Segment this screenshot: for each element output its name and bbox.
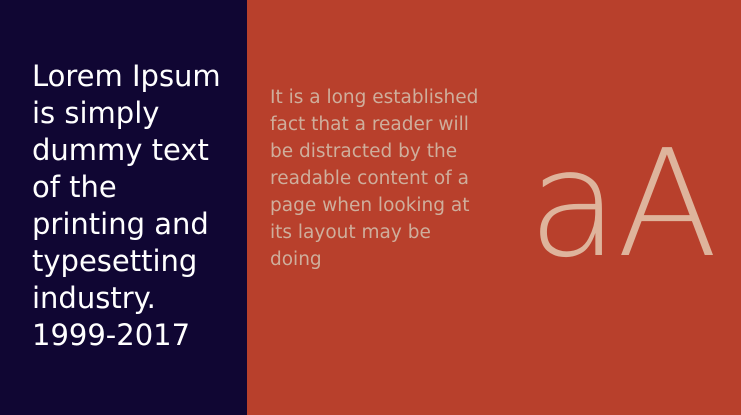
type-specimen-aA: aA [528, 130, 716, 278]
right-red-panel: It is a long established fact that a rea… [247, 0, 741, 415]
headline-text: Lorem Ipsum is simply dummy text of the … [32, 58, 232, 354]
left-navy-panel: Lorem Ipsum is simply dummy text of the … [0, 0, 247, 415]
body-paragraph: It is a long established fact that a rea… [270, 84, 485, 273]
slide-canvas: Lorem Ipsum is simply dummy text of the … [0, 0, 741, 415]
